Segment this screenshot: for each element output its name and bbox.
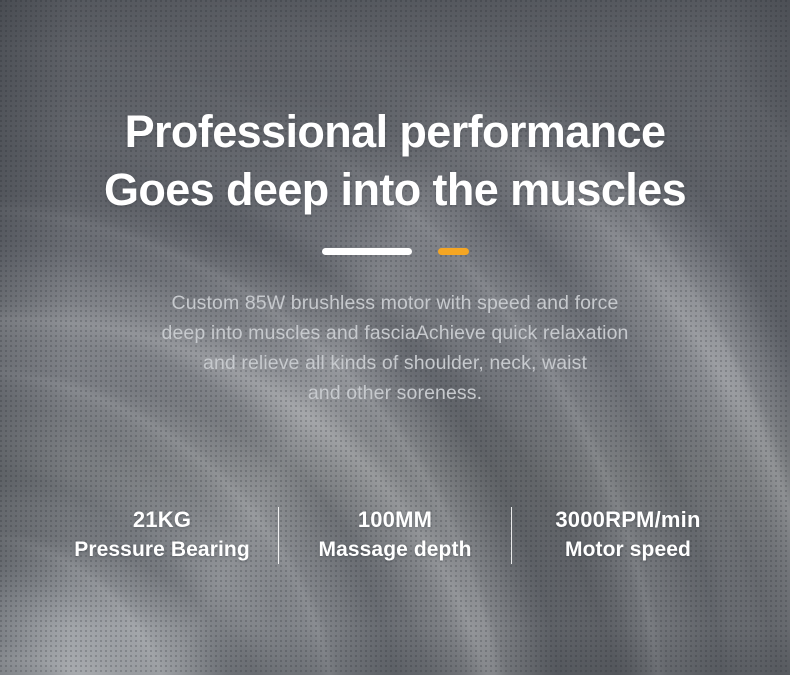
- divider-bar-accent: [438, 248, 469, 255]
- headline-block: Professional performance Goes deep into …: [0, 103, 790, 219]
- stat-value: 100MM: [279, 505, 511, 535]
- stat-item-motor-speed: 3000RPM/min Motor speed: [512, 503, 744, 567]
- stat-value: 21KG: [46, 505, 278, 535]
- headline-line-1: Professional performance: [0, 103, 790, 161]
- stat-item-pressure-bearing: 21KG Pressure Bearing: [46, 503, 278, 567]
- description-line-4: and other soreness.: [56, 378, 734, 408]
- banner-content: Professional performance Goes deep into …: [0, 0, 790, 675]
- product-feature-banner: Professional performance Goes deep into …: [0, 0, 790, 675]
- stats-row: 21KG Pressure Bearing 100MM Massage dept…: [0, 503, 790, 567]
- divider-bar-white: [322, 248, 412, 255]
- divider-row: [0, 248, 790, 255]
- stat-label: Massage depth: [279, 535, 511, 565]
- description-line-2: deep into muscles and fasciaAchieve quic…: [56, 318, 734, 348]
- stat-value: 3000RPM/min: [512, 505, 744, 535]
- stat-label: Pressure Bearing: [46, 535, 278, 565]
- stat-item-massage-depth: 100MM Massage depth: [279, 503, 511, 567]
- description-line-1: Custom 85W brushless motor with speed an…: [56, 288, 734, 318]
- description-block: Custom 85W brushless motor with speed an…: [0, 288, 790, 408]
- stat-label: Motor speed: [512, 535, 744, 565]
- description-line-3: and relieve all kinds of shoulder, neck,…: [56, 348, 734, 378]
- headline-line-2: Goes deep into the muscles: [0, 161, 790, 219]
